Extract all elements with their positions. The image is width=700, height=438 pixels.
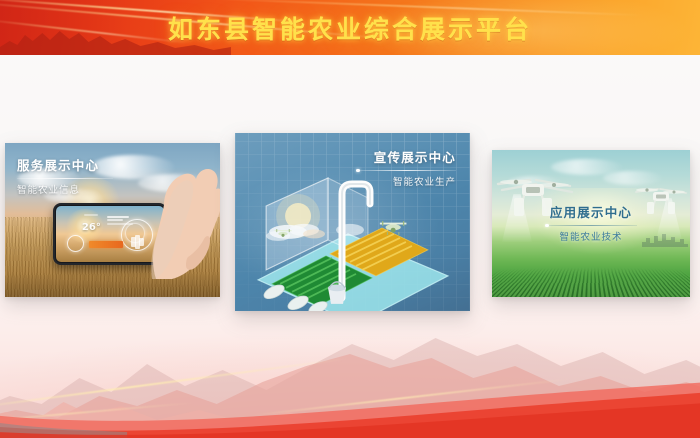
header-banner: 如东县智能农业综合展示平台 — [0, 0, 700, 55]
card-app-title: 应用展示中心 — [492, 202, 690, 221]
poster-stage: 如东县智能农业综合展示平台 26° — [0, 0, 700, 438]
page-title: 如东县智能农业综合展示平台 — [0, 10, 700, 46]
bottom-swoosh-icon — [0, 368, 700, 438]
hud-small-ring-icon — [67, 235, 84, 252]
card-service-text: 服务展示中心 智能农业信息 — [17, 155, 113, 196]
card-promo-display-center[interactable]: 宣传展示中心 智能农业生产 — [235, 133, 470, 311]
isometric-farm-illustration-icon — [235, 172, 470, 311]
card-promo-title: 宣传展示中心 — [356, 147, 456, 166]
hud-bar — [107, 219, 123, 221]
card-service-title: 服务展示中心 — [17, 155, 113, 174]
card-service-divider — [17, 178, 113, 179]
card-app-text: 应用展示中心 智能农业技术 — [492, 202, 690, 243]
hud-temperature: 26° — [82, 222, 101, 233]
card-service-inner: 26° — [5, 143, 220, 297]
hud-bar — [107, 216, 129, 218]
card-service-subtitle: 智能农业信息 — [17, 182, 113, 196]
card-service-display-center[interactable]: 26° — [5, 143, 220, 297]
card-app-divider — [545, 225, 637, 226]
card-promo-divider — [356, 170, 456, 171]
hud-chip-bar — [89, 241, 123, 248]
card-app-inner: 应用展示中心 智能农业技术 — [492, 150, 690, 297]
card-promo-inner: 宣传展示中心 智能农业生产 — [235, 133, 470, 311]
card-promo-subtitle: 智能农业生产 — [356, 174, 456, 188]
card-app-subtitle: 智能农业技术 — [492, 229, 690, 243]
card-application-display-center[interactable]: 应用展示中心 智能农业技术 — [492, 150, 690, 297]
hud-bar — [139, 238, 144, 246]
hand-icon — [148, 161, 220, 279]
card-promo-text: 宣传展示中心 智能农业生产 — [356, 147, 456, 188]
